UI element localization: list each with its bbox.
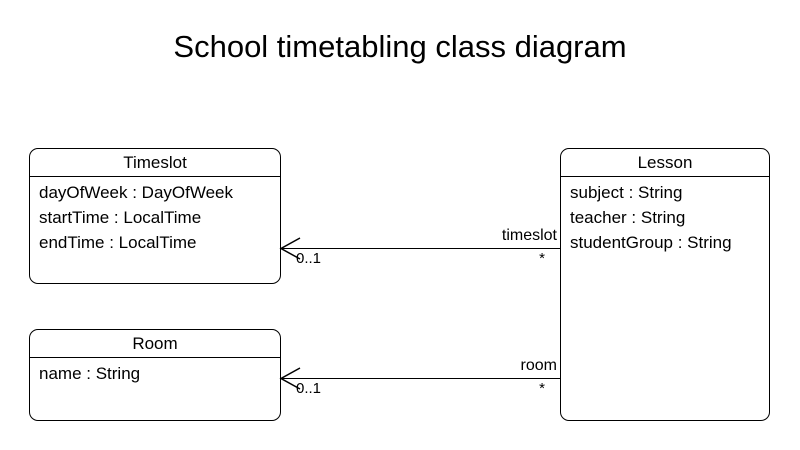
association-timeslot[interactable]: timeslot 0..1 * <box>281 248 560 249</box>
uml-attribute: endTime : LocalTime <box>39 230 280 255</box>
uml-class-lesson[interactable]: Lesson subject : String teacher : String… <box>560 148 770 421</box>
diagram-canvas: School timetabling class diagram Timeslo… <box>0 0 800 450</box>
association-multiplicity-source: * <box>539 250 545 268</box>
uml-class-name: Room <box>30 330 280 358</box>
uml-attribute: studentGroup : String <box>570 230 769 255</box>
association-line <box>281 248 560 249</box>
association-room[interactable]: room 0..1 * <box>281 378 560 379</box>
association-role-label: timeslot <box>502 227 557 245</box>
uml-attribute: startTime : LocalTime <box>39 205 280 230</box>
uml-attribute-list: name : String <box>30 358 280 386</box>
uml-class-room[interactable]: Room name : String <box>29 329 281 421</box>
uml-class-name: Lesson <box>561 149 769 177</box>
association-line <box>281 378 560 379</box>
uml-attribute: name : String <box>39 361 280 386</box>
uml-attribute: dayOfWeek : DayOfWeek <box>39 180 280 205</box>
uml-attribute: subject : String <box>570 180 769 205</box>
uml-attribute: teacher : String <box>570 205 769 230</box>
uml-class-name: Timeslot <box>30 149 280 177</box>
uml-attribute-list: subject : String teacher : String studen… <box>561 177 769 255</box>
page-title: School timetabling class diagram <box>0 29 800 65</box>
association-multiplicity-source: * <box>539 380 545 398</box>
uml-attribute-list: dayOfWeek : DayOfWeek startTime : LocalT… <box>30 177 280 255</box>
association-role-label: room <box>521 357 557 375</box>
association-multiplicity-target: 0..1 <box>296 250 321 268</box>
association-multiplicity-target: 0..1 <box>296 380 321 398</box>
uml-class-timeslot[interactable]: Timeslot dayOfWeek : DayOfWeek startTime… <box>29 148 281 284</box>
